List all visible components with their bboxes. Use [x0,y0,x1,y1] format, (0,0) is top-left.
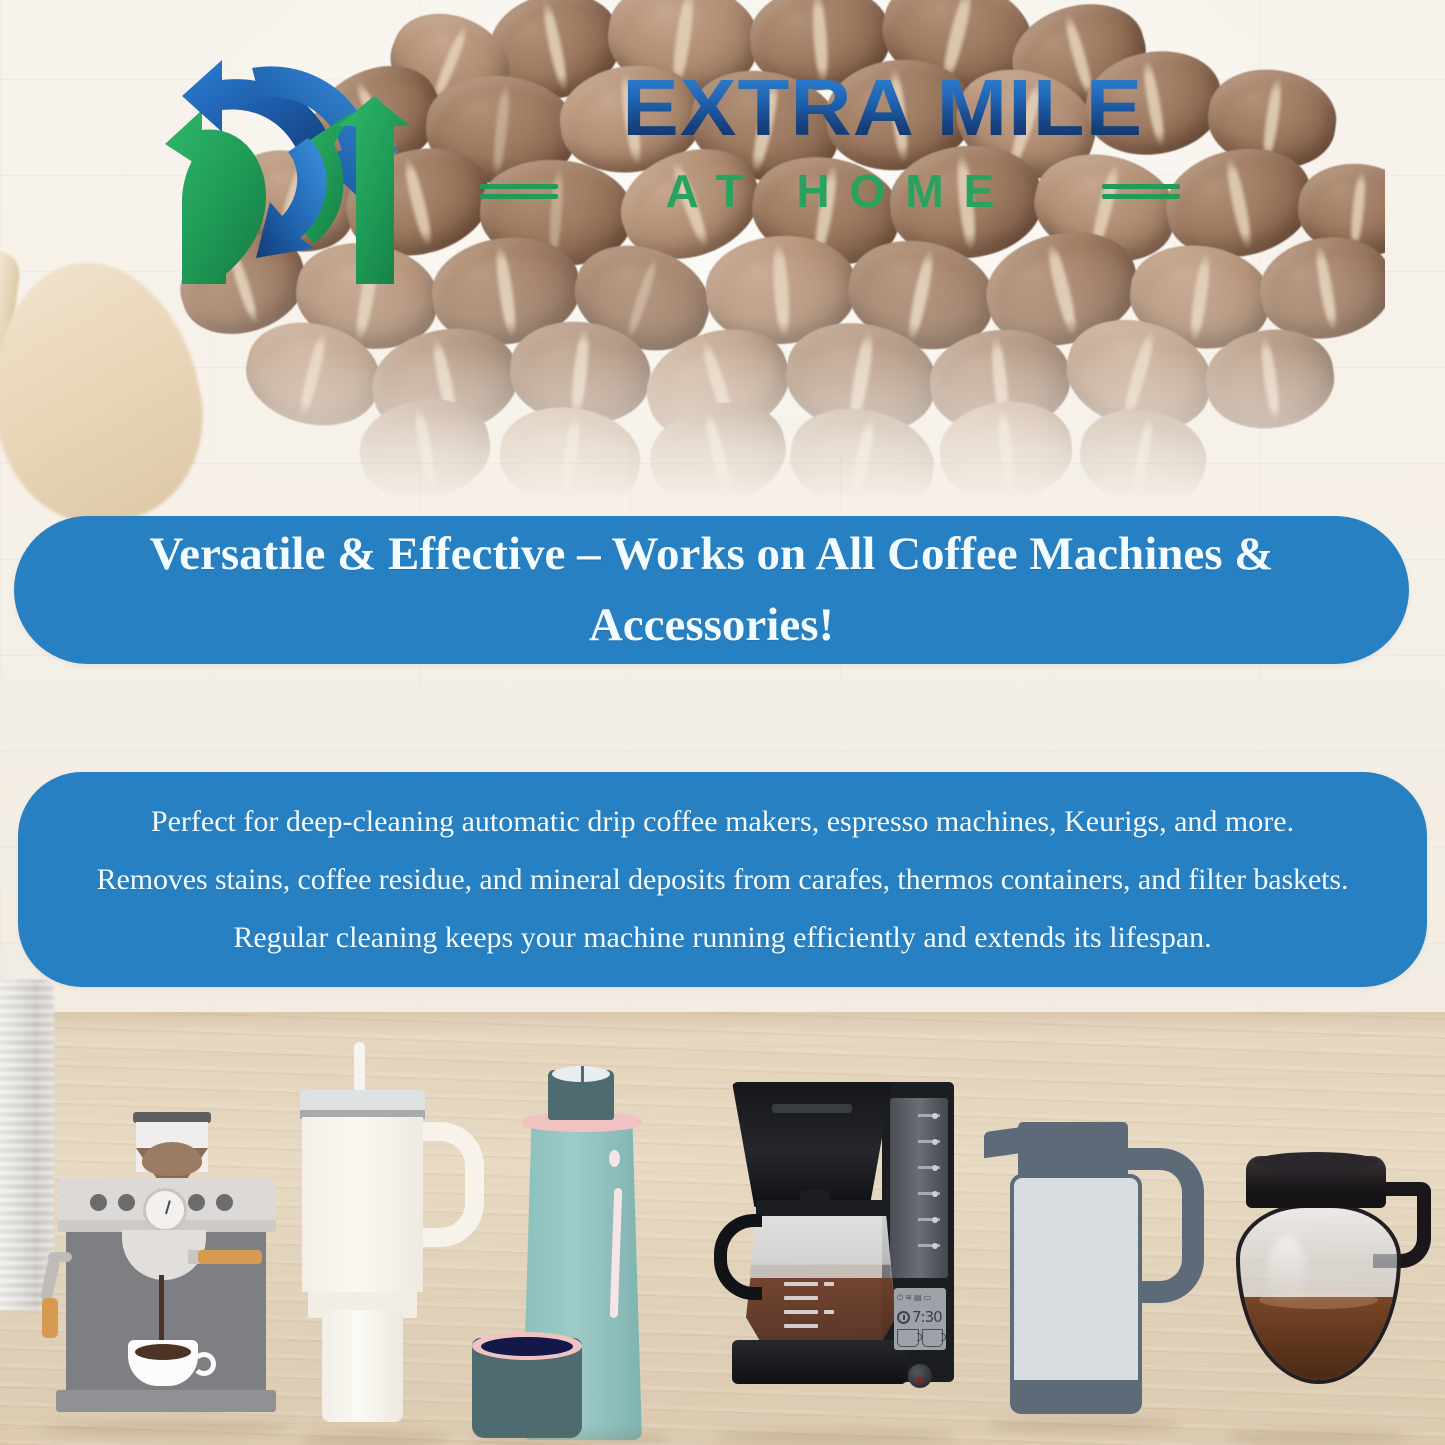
countertop-edge-shadow [0,1012,1445,1038]
infographic-canvas: EXTRA MILE AT HOME Versatile & Effective… [0,0,1445,1445]
power-button[interactable] [908,1364,932,1388]
brand-name-primary: EXTRA MILE [480,68,1286,148]
pressure-gauge-icon [143,1188,187,1232]
brand-tagline-row: AT HOME [480,164,1180,218]
small-cup-icon[interactable] [897,1329,919,1347]
large-cup-icon[interactable] [922,1329,944,1347]
display-status-icons: ⏻ ≋ ▤ ▭ [897,1291,943,1304]
signal-icon: ≋ [905,1293,912,1302]
benefit-line-1: Perfect for deep-cleaning automatic drip… [151,793,1294,851]
house-recycle-arrows-logo-icon [160,52,410,287]
benefits-banner: Perfect for deep-cleaning automatic drip… [18,772,1427,987]
clock-icon [897,1311,910,1324]
benefit-line-3: Regular cleaning keeps your machine runn… [233,909,1211,967]
glass-carafe-icon [1218,1156,1438,1445]
thermal-carafe-icon [978,1128,1198,1443]
brand-name-secondary: AT HOME [572,164,1088,218]
battery-icon: ▭ [924,1293,932,1302]
display-time: 7:30 [912,1308,942,1326]
drip-coffee-maker-icon: ⏻ ≋ ▤ ▭ 7:30 [712,1082,962,1442]
brand-logo: EXTRA MILE AT HOME [160,52,1250,287]
brand-wordmark: EXTRA MILE AT HOME [480,68,1240,268]
cup-size-buttons[interactable] [897,1329,943,1347]
insulated-tumbler-icon [292,1042,452,1442]
headline-banner: Versatile & Effective – Works on All Cof… [14,516,1409,664]
espresso-machine-icon [48,1112,288,1442]
headline-text: Versatile & Effective – Works on All Cof… [147,519,1277,662]
tagline-dash-left-icon [480,182,558,200]
product-lineup: ⏻ ≋ ▤ ▭ 7:30 [0,1060,1445,1445]
power-icon: ⏻ [897,1293,903,1303]
thermos-flask-icon [482,1070,682,1442]
tagline-dash-right-icon [1102,182,1180,200]
benefit-line-2: Removes stains, coffee residue, and mine… [97,851,1349,909]
clock-display: 7:30 [897,1306,943,1328]
strength-icon: ▤ [914,1293,922,1302]
